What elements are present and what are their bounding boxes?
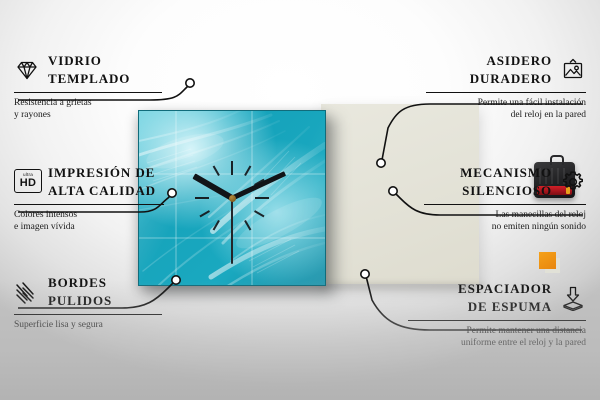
- feature-espaciador-de-espuma: ESPACIADOR DE ESPUMA Permite mantener un…: [408, 280, 586, 349]
- feature-bordes-pulidos: BORDES PULIDOS Superficie lisa y segura: [14, 274, 162, 332]
- feature-title-line2: DE ESPUMA: [468, 299, 552, 314]
- feature-divider: [426, 92, 586, 93]
- feature-divider: [424, 204, 586, 205]
- feature-impresion-alta-calidad: ultra HD IMPRESIÓN DE ALTA CALIDAD Color…: [14, 164, 164, 233]
- wall-clock: [138, 110, 326, 286]
- picture-frame-hook-icon: [560, 57, 586, 83]
- feature-header: BORDES PULIDOS: [14, 274, 162, 310]
- feature-title-line2: SILENCIOSO: [462, 183, 552, 198]
- feature-description: Permite una fácil instalación del reloj …: [426, 98, 586, 121]
- feature-title-line1: IMPRESIÓN DE: [48, 165, 155, 180]
- feature-header: MECANISMO SILENCIOSO: [424, 164, 586, 200]
- feature-title-line2: TEMPLADO: [48, 71, 130, 86]
- diamond-icon: [14, 57, 40, 83]
- feature-title-line2: ALTA CALIDAD: [48, 183, 156, 198]
- gear-icon: [560, 169, 586, 195]
- hd-badge-main-label: HD: [20, 178, 37, 189]
- feature-header: ASIDERO DURADERO: [426, 52, 586, 88]
- feature-description: Superficie lisa y segura: [14, 320, 162, 332]
- feature-divider: [14, 204, 164, 205]
- ultra-hd-badge-icon: ultra HD: [14, 169, 40, 195]
- feature-divider: [408, 320, 586, 321]
- infographic-canvas: VIDRIO TEMPLADO Resistencia a grietas y …: [0, 0, 600, 400]
- feature-divider: [14, 314, 162, 315]
- feature-title-line1: VIDRIO: [48, 53, 102, 68]
- feature-title-line1: ESPACIADOR: [458, 281, 552, 296]
- feature-description: Las manecillas del reloj no emiten ningú…: [424, 210, 586, 233]
- feature-title-line1: ASIDERO: [486, 53, 552, 68]
- feature-header: VIDRIO TEMPLADO: [14, 52, 162, 88]
- down-arrow-onto-pad-icon: [560, 285, 586, 311]
- feature-description: Colores intensos e imagen vívida: [14, 210, 164, 233]
- feature-title-line2: DURADERO: [470, 71, 552, 86]
- diagonal-lines-icon: [14, 279, 40, 305]
- clock-center-cap: [229, 195, 236, 202]
- feature-asidero-duradero: ASIDERO DURADERO Permite una fácil insta…: [426, 52, 586, 121]
- feature-description: Permite mantener una distancia uniforme …: [408, 326, 586, 349]
- feature-description: Resistencia a grietas y rayones: [14, 98, 162, 121]
- feature-mecanismo-silencioso: MECANISMO SILENCIOSO Las manecillas del …: [424, 164, 586, 233]
- clock-second-hand: [231, 198, 233, 264]
- feature-title-line1: MECANISMO: [460, 165, 552, 180]
- feature-divider: [14, 92, 162, 93]
- feature-title-line1: BORDES: [48, 275, 107, 290]
- feature-vidrio-templado: VIDRIO TEMPLADO Resistencia a grietas y …: [14, 52, 162, 121]
- feature-header: ESPACIADOR DE ESPUMA: [408, 280, 586, 316]
- foam-spacer: [539, 252, 556, 269]
- feature-header: ultra HD IMPRESIÓN DE ALTA CALIDAD: [14, 164, 164, 200]
- feature-title-line2: PULIDOS: [48, 293, 112, 308]
